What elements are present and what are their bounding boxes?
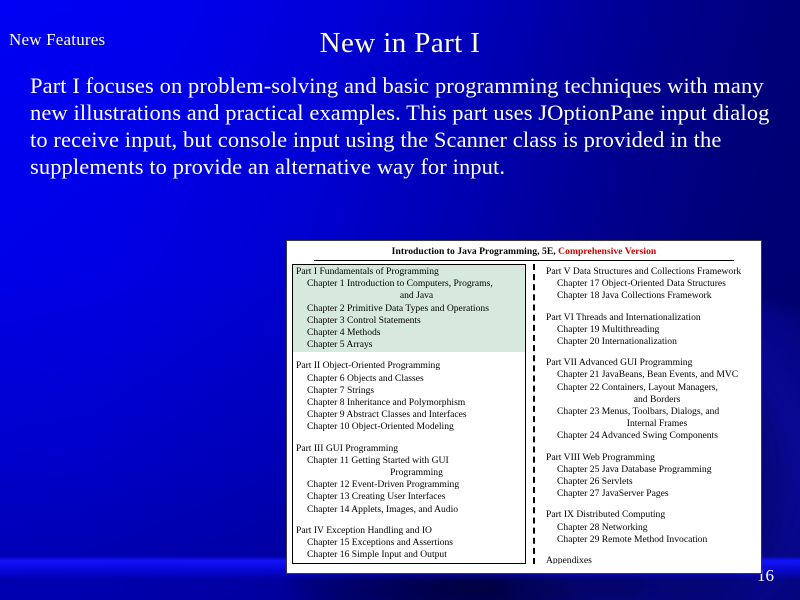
toc-part-title[interactable]: Part III GUI Programming — [296, 443, 523, 455]
toc-chapter-item[interactable]: Chapter 9 Abstract Classes and Interface… — [296, 409, 523, 421]
toc-part-block: Part II Object-Oriented ProgrammingChapt… — [293, 359, 525, 434]
toc-header: Introduction to Java Programming, 5E, Co… — [292, 245, 756, 259]
toc-part-block: Part IV Exception Handling and IOChapter… — [293, 524, 525, 563]
toc-part-block: Part IX Distributed ComputingChapter 28 … — [543, 508, 756, 547]
toc-part-title[interactable]: Part II Object-Oriented Programming — [296, 360, 523, 372]
toc-header-title: Introduction to Java Programming, 5E, — [392, 246, 556, 257]
toc-chapter-item[interactable]: Chapter 27 JavaServer Pages — [546, 488, 754, 500]
toc-part-block: Part V Data Structures and Collections F… — [543, 265, 756, 304]
toc-chapter-item[interactable]: Chapter 29 Remote Method Invocation — [546, 534, 754, 546]
toc-chapter-item[interactable]: Chapter 28 Networking — [546, 522, 754, 534]
toc-part-block: Appendixes — [543, 554, 756, 564]
toc-chapter-item[interactable]: Chapter 26 Servlets — [546, 476, 754, 488]
toc-part-title[interactable]: Part VIII Web Programming — [546, 452, 754, 464]
toc-part-title[interactable]: Appendixes — [546, 555, 754, 564]
toc-chapter-item[interactable]: Chapter 19 Multithreading — [546, 324, 754, 336]
toc-chapter-item[interactable]: Chapter 24 Advanced Swing Components — [546, 430, 754, 442]
toc-chapter-item[interactable]: Chapter 6 Objects and Classes — [296, 373, 523, 385]
toc-part-block: Part VIII Web ProgrammingChapter 25 Java… — [543, 451, 756, 502]
toc-part-title[interactable]: Part IX Distributed Computing — [546, 509, 754, 521]
toc-chapter-item[interactable]: Chapter 17 Object-Oriented Data Structur… — [546, 278, 754, 290]
toc-chapter-item[interactable]: Chapter 8 Inheritance and Polymorphism — [296, 397, 523, 409]
toc-right-column: Part V Data Structures and Collections F… — [543, 264, 756, 564]
toc-chapter-item[interactable]: Chapter 7 Strings — [296, 385, 523, 397]
toc-chapter-item-continuation: Programming — [296, 467, 523, 479]
toc-chapter-item[interactable]: Chapter 11 Getting Started with GUI — [296, 455, 523, 467]
toc-chapter-item[interactable]: Chapter 15 Exceptions and Assertions — [296, 537, 523, 549]
toc-chapter-item[interactable]: Chapter 3 Control Statements — [296, 315, 523, 327]
toc-part-block: Part VII Advanced GUI ProgrammingChapter… — [543, 356, 756, 443]
toc-chapter-item[interactable]: Chapter 4 Methods — [296, 327, 523, 339]
toc-chapter-item[interactable]: Chapter 22 Containers, Layout Managers, — [546, 382, 754, 394]
toc-chapter-item[interactable]: Chapter 2 Primitive Data Types and Opera… — [296, 303, 523, 315]
toc-chapter-item[interactable]: Chapter 16 Simple Input and Output — [296, 549, 523, 561]
toc-chapter-item[interactable]: Chapter 18 Java Collections Framework — [546, 290, 754, 302]
toc-part-block: Part III GUI ProgrammingChapter 11 Getti… — [293, 442, 525, 517]
toc-chapter-item[interactable]: Chapter 20 Internationalization — [546, 336, 754, 348]
toc-chapter-item[interactable]: Chapter 12 Event-Driven Programming — [296, 479, 523, 491]
toc-chapter-item[interactable]: Chapter 14 Applets, Images, and Audio — [296, 504, 523, 516]
toc-chapter-item-continuation: Internal Frames — [546, 418, 754, 430]
toc-chapter-item[interactable]: Chapter 1 Introduction to Computers, Pro… — [296, 278, 523, 290]
toc-part-title[interactable]: Part I Fundamentals of Programming — [296, 266, 523, 278]
slide-body-paragraph: Part I focuses on problem-solving and ba… — [30, 72, 770, 180]
toc-chapter-item[interactable]: Chapter 5 Arrays — [296, 339, 523, 351]
toc-part-title[interactable]: Part V Data Structures and Collections F… — [546, 266, 754, 278]
toc-part-block: Part I Fundamentals of ProgrammingChapte… — [293, 265, 525, 352]
toc-part-title[interactable]: Part VI Threads and Internationalization — [546, 312, 754, 324]
toc-part-title[interactable]: Part VII Advanced GUI Programming — [546, 357, 754, 369]
toc-columns: Part I Fundamentals of ProgrammingChapte… — [292, 264, 756, 564]
toc-chapter-item[interactable]: Chapter 21 JavaBeans, Bean Events, and M… — [546, 369, 754, 381]
toc-chapter-item-continuation: and Java — [296, 290, 523, 302]
toc-chapter-item[interactable]: Chapter 23 Menus, Toolbars, Dialogs, and — [546, 406, 754, 418]
toc-chapter-item[interactable]: Chapter 25 Java Database Programming — [546, 464, 754, 476]
slide-canvas: New Features New in Part I Part I focuse… — [0, 0, 800, 600]
toc-chapter-item-continuation: and Borders — [546, 394, 754, 406]
toc-part-title[interactable]: Part IV Exception Handling and IO — [296, 525, 523, 537]
toc-chapter-item[interactable]: Chapter 10 Object-Oriented Modeling — [296, 421, 523, 433]
toc-column-divider — [533, 264, 535, 564]
table-of-contents-panel: Introduction to Java Programming, 5E, Co… — [286, 240, 762, 574]
toc-chapter-item[interactable]: Chapter 13 Creating User Interfaces — [296, 491, 523, 503]
toc-left-column: Part I Fundamentals of ProgrammingChapte… — [292, 264, 526, 564]
toc-header-edition: Comprehensive Version — [558, 246, 656, 257]
toc-header-divider — [314, 260, 734, 261]
page-title: New in Part I — [0, 27, 800, 60]
toc-part-block: Part VI Threads and Internationalization… — [543, 311, 756, 350]
